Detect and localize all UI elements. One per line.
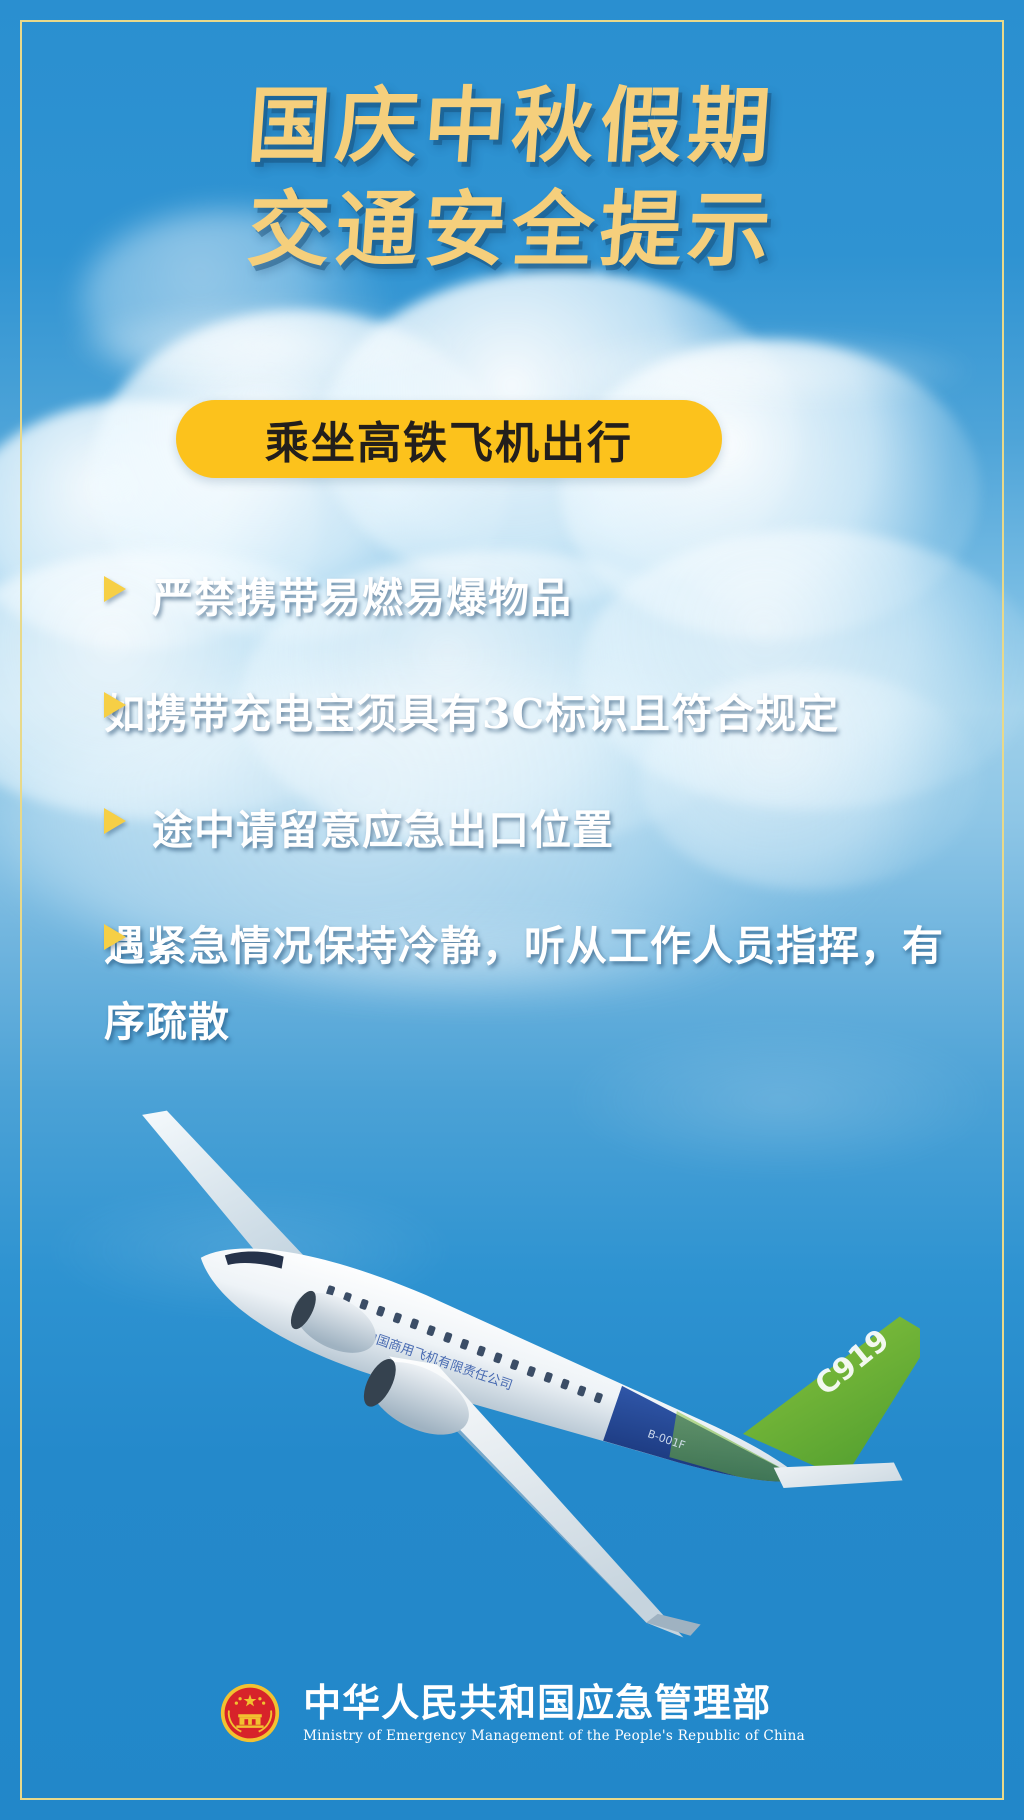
triangle-marker-icon	[104, 808, 126, 834]
list-item: 如携带充电宝须具有3C标识且符合规定	[104, 676, 944, 752]
tip-text: 如携带充电宝须具有3C标识且符合规定	[104, 676, 839, 752]
triangle-marker-icon	[104, 692, 126, 718]
cloud-wisp	[520, 330, 980, 410]
list-item: 遇紧急情况保持冷静，听从工作人员指挥，有序疏散	[104, 908, 944, 1060]
tip-text: 遇紧急情况保持冷静，听从工作人员指挥，有序疏散	[104, 908, 944, 1060]
footer: 中华人民共和国应急管理部 Ministry of Emergency Manag…	[0, 1681, 1024, 1744]
tips-list: 严禁携带易燃易爆物品 如携带充电宝须具有3C标识且符合规定 途中请留意应急出口位…	[104, 560, 944, 1100]
title-line-2: 交通安全提示	[0, 178, 1024, 282]
tip-text: 严禁携带易燃易爆物品	[152, 560, 572, 636]
triangle-marker-icon	[104, 924, 126, 950]
list-item: 严禁携带易燃易爆物品	[104, 560, 944, 636]
cloud-wisp	[60, 300, 480, 390]
title-line-1: 国庆中秋假期	[0, 74, 1024, 178]
footer-org-cn: 中华人民共和国应急管理部	[303, 1681, 805, 1725]
poster-title: 国庆中秋假期 交通安全提示	[0, 74, 1024, 282]
poster-root: 国庆中秋假期 交通安全提示 乘坐高铁飞机出行 严禁携带易燃易爆物品 如携带充电宝…	[0, 0, 1024, 1820]
china-national-emblem-icon	[219, 1682, 281, 1744]
tip-text: 途中请留意应急出口位置	[152, 792, 614, 868]
list-item: 途中请留意应急出口位置	[104, 792, 944, 868]
footer-text-block: 中华人民共和国应急管理部 Ministry of Emergency Manag…	[303, 1681, 805, 1744]
footer-org-en: Ministry of Emergency Management of the …	[303, 1728, 805, 1744]
triangle-marker-icon	[104, 576, 126, 602]
cloud-wisp	[40, 1180, 460, 1320]
section-banner: 乘坐高铁飞机出行	[176, 400, 722, 478]
section-banner-label: 乘坐高铁飞机出行	[265, 407, 633, 471]
